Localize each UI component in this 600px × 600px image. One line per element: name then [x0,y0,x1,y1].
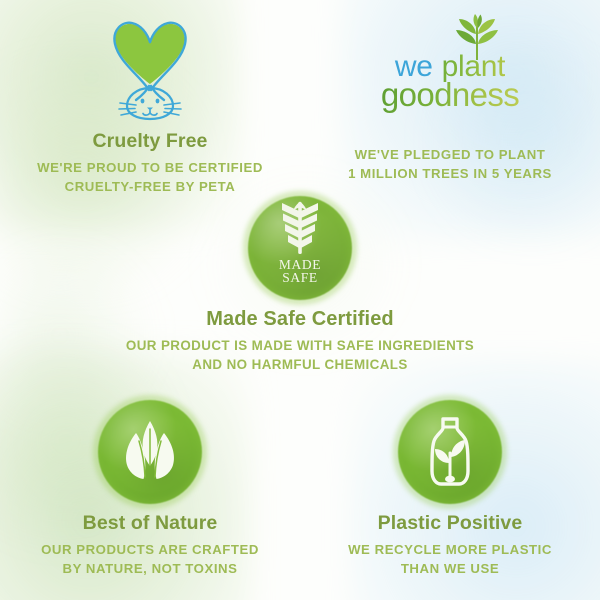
cruelty-free-description-line-2: CRUELTY-FREE BY PETA [18,178,282,197]
badge-artwork [98,400,202,504]
plastic-positive-description: WE RECYCLE MORE PLASTIC THAN WE USE [318,541,582,578]
we-plant-goodness-description-line-2: 1 MILLION TREES IN 5 YEARS [318,165,582,184]
panel-best-of-nature: Best of Nature OUR PRODUCTS ARE CRAFTED … [18,392,282,579]
we-plant-goodness-description-line-1: WE'VE PLEDGED TO PLANT [318,146,582,165]
plastic-positive-description-line-1: WE RECYCLE MORE PLASTIC [318,541,582,560]
made-safe-wordmark: MADE SAFE [248,258,352,284]
badge-artwork [398,400,502,504]
made-safe-wordmark-line-1: MADE [248,258,352,271]
panel-we-plant-goodness: weplant goodness WE'VE PLEDGED TO PLANT … [318,10,582,183]
bottle-with-sprout-badge-icon [398,400,502,504]
we-plant-goodness-description: WE'VE PLEDGED TO PLANT 1 MILLION TREES I… [318,146,582,183]
we-plant-goodness-logo-slot: weplant goodness [318,10,582,128]
cruelty-free-title: Cruelty Free [18,130,282,152]
logo-word-goodness: goodness [381,76,519,113]
peta-cruelty-free-bunny-icon [100,18,200,122]
best-of-nature-description-line-1: OUR PRODUCTS ARE CRAFTED [18,541,282,560]
best-of-nature-description-line-2: BY NATURE, NOT TOXINS [18,560,282,579]
panel-plastic-positive: Plastic Positive WE RECYCLE MORE PLASTIC… [318,392,582,579]
panel-made-safe: MADE SAFE Made Safe Certified OUR PRODUC… [108,196,492,374]
plastic-positive-title: Plastic Positive [318,512,582,534]
we-plant-goodness-sprout-logo: weplant goodness [355,14,545,124]
plastic-positive-description-line-2: THAN WE USE [318,560,582,579]
three-leaves-icon [115,419,185,485]
best-of-nature-description: OUR PRODUCTS ARE CRAFTED BY NATURE, NOT … [18,541,282,578]
made-safe-description-line-2: AND NO HARMFUL CHEMICALS [108,355,492,374]
made-safe-description: OUR PRODUCT IS MADE WITH SAFE INGREDIENT… [108,336,492,374]
best-of-nature-title: Best of Nature [18,512,282,534]
made-safe-description-line-1: OUR PRODUCT IS MADE WITH SAFE INGREDIENT… [108,336,492,355]
bottle-sprout-icon [419,415,481,489]
plastic-positive-icon-slot [318,392,582,504]
infographic-canvas: Cruelty Free WE'RE PROUD TO BE CERTIFIED… [0,0,600,600]
best-of-nature-icon-slot [18,392,282,504]
infographic-content: Cruelty Free WE'RE PROUD TO BE CERTIFIED… [0,0,600,600]
panel-cruelty-free: Cruelty Free WE'RE PROUD TO BE CERTIFIED… [18,10,282,197]
three-leaves-badge-icon [98,400,202,504]
made-safe-icon-slot: MADE SAFE [108,196,492,300]
logo-line-goodness: goodness [355,78,545,111]
made-safe-leaf-badge-icon: MADE SAFE [248,196,352,300]
cruelty-free-description: WE'RE PROUD TO BE CERTIFIED CRUELTY-FREE… [18,159,282,196]
made-safe-title: Made Safe Certified [108,308,492,331]
made-safe-wordmark-line-2: SAFE [248,271,352,284]
cruelty-free-description-line-1: WE'RE PROUD TO BE CERTIFIED [18,159,282,178]
cruelty-free-icon-slot [18,10,282,122]
